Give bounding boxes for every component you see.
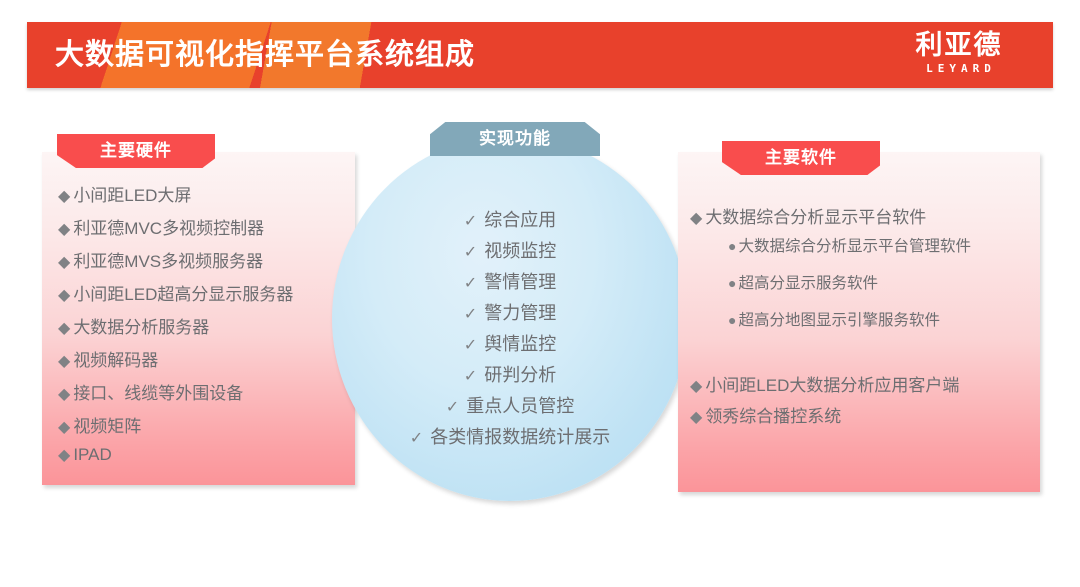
dot-bullet-icon: ● <box>728 275 736 291</box>
function-list-item-label: 研判分析 <box>484 365 556 385</box>
software-list-item-label: 大数据综合分析显示平台管理软件 <box>738 234 971 256</box>
hardware-list-item-label: 利亚德MVS多视频服务器 <box>73 247 263 272</box>
function-list-item: ✓重点人员管控 <box>332 391 688 422</box>
check-icon: ✓ <box>464 244 477 261</box>
diamond-bullet-icon: ◆ <box>690 407 702 427</box>
dot-bullet-icon: ● <box>728 312 736 328</box>
software-list-item: ◆大数据综合分析显示平台软件 <box>690 203 1035 234</box>
diamond-bullet-icon: ◆ <box>58 417 70 437</box>
diamond-bullet-icon: ◆ <box>58 318 70 338</box>
software-list-item: ●大数据综合分析显示平台管理软件 <box>690 234 1035 271</box>
check-icon: ✓ <box>464 368 477 385</box>
hardware-list-item-label: 视频矩阵 <box>73 412 141 437</box>
function-list-item: ✓综合应用 <box>332 205 688 236</box>
software-list-item-label: 领秀综合播控系统 <box>705 402 841 427</box>
function-list-item-label: 视频监控 <box>484 241 556 261</box>
hardware-list-item-label: 视频解码器 <box>73 346 158 371</box>
function-list-item-label: 各类情报数据统计展示 <box>430 427 610 447</box>
hardware-list-item-label: IPAD <box>73 445 111 465</box>
check-icon: ✓ <box>464 337 477 354</box>
hardware-item-list: ◆小间距LED大屏◆利亚德MVC多视频控制器◆利亚德MVS多视频服务器◆小间距L… <box>58 181 353 478</box>
functions-banner-label: 实现功能 <box>430 122 600 156</box>
software-list-item: ◆小间距LED大数据分析应用客户端 <box>690 371 1035 402</box>
functions-item-list: ✓综合应用✓视频监控✓警情管理✓警力管理✓舆情监控✓研判分析✓重点人员管控✓各类… <box>332 205 688 453</box>
diamond-bullet-icon: ◆ <box>58 384 70 404</box>
hardware-panel-ribbon-label: 主要硬件 <box>57 134 215 168</box>
function-list-item-label: 警情管理 <box>484 272 556 292</box>
page-title: 大数据可视化指挥平台系统组成 <box>55 22 475 88</box>
software-item-list: ◆大数据综合分析显示平台软件●大数据综合分析显示平台管理软件●超高分显示服务软件… <box>690 203 1035 433</box>
diamond-bullet-icon: ◆ <box>58 219 70 239</box>
function-list-item-label: 舆情监控 <box>484 334 556 354</box>
hardware-list-item-label: 大数据分析服务器 <box>73 313 209 338</box>
diamond-bullet-icon: ◆ <box>690 208 702 228</box>
software-list-item-label: 超高分地图显示引擎服务软件 <box>738 308 940 330</box>
brand-logo: 利亚德 LEYARD <box>889 28 1029 76</box>
diamond-bullet-icon: ◆ <box>58 252 70 272</box>
diamond-bullet-icon: ◆ <box>58 445 70 465</box>
diamond-bullet-icon: ◆ <box>58 186 70 206</box>
dot-bullet-icon: ● <box>728 238 736 254</box>
check-icon: ✓ <box>446 399 459 416</box>
hardware-list-item: ◆大数据分析服务器 <box>58 313 353 346</box>
hardware-list-item-label: 接口、线缆等外围设备 <box>73 379 243 404</box>
check-icon: ✓ <box>410 430 423 447</box>
software-list-item: ◆领秀综合播控系统 <box>690 402 1035 433</box>
function-list-item: ✓各类情报数据统计展示 <box>332 422 688 453</box>
function-list-item: ✓警情管理 <box>332 267 688 298</box>
hardware-list-item: ◆利亚德MVC多视频控制器 <box>58 214 353 247</box>
hardware-list-item: ◆利亚德MVS多视频服务器 <box>58 247 353 280</box>
diamond-bullet-icon: ◆ <box>58 285 70 305</box>
function-list-item-label: 综合应用 <box>484 210 556 230</box>
check-icon: ✓ <box>464 213 477 230</box>
function-list-item-label: 重点人员管控 <box>466 396 574 416</box>
function-list-item: ✓警力管理 <box>332 298 688 329</box>
software-list-item: ●超高分地图显示引擎服务软件 <box>690 308 1035 345</box>
software-list-item-label: 小间距LED大数据分析应用客户端 <box>705 371 959 396</box>
hardware-list-item: ◆IPAD <box>58 445 353 478</box>
hardware-list-item: ◆视频解码器 <box>58 346 353 379</box>
software-panel-ribbon-label: 主要软件 <box>722 141 880 175</box>
hardware-list-item-label: 小间距LED超高分显示服务器 <box>73 280 293 305</box>
software-list-item: ●超高分显示服务软件 <box>690 271 1035 308</box>
check-icon: ✓ <box>464 306 477 323</box>
function-list-item: ✓舆情监控 <box>332 329 688 360</box>
brand-logo-chinese: 利亚德 <box>889 28 1029 62</box>
hardware-list-item: ◆接口、线缆等外围设备 <box>58 379 353 412</box>
brand-logo-english: LEYARD <box>889 62 1029 76</box>
hardware-list-item: ◆小间距LED大屏 <box>58 181 353 214</box>
hardware-list-item-label: 小间距LED大屏 <box>73 181 191 206</box>
software-list-item-label: 超高分显示服务软件 <box>738 271 878 293</box>
software-list-item-label: 大数据综合分析显示平台软件 <box>705 203 926 228</box>
function-list-item-label: 警力管理 <box>484 303 556 323</box>
hardware-list-item-label: 利亚德MVC多视频控制器 <box>73 214 264 239</box>
hardware-list-item: ◆小间距LED超高分显示服务器 <box>58 280 353 313</box>
function-list-item: ✓视频监控 <box>332 236 688 267</box>
diamond-bullet-icon: ◆ <box>690 376 702 396</box>
check-icon: ✓ <box>464 275 477 292</box>
function-list-item: ✓研判分析 <box>332 360 688 391</box>
diamond-bullet-icon: ◆ <box>58 351 70 371</box>
hardware-list-item: ◆视频矩阵 <box>58 412 353 445</box>
header-banner: 大数据可视化指挥平台系统组成 利亚德 LEYARD <box>27 22 1053 88</box>
